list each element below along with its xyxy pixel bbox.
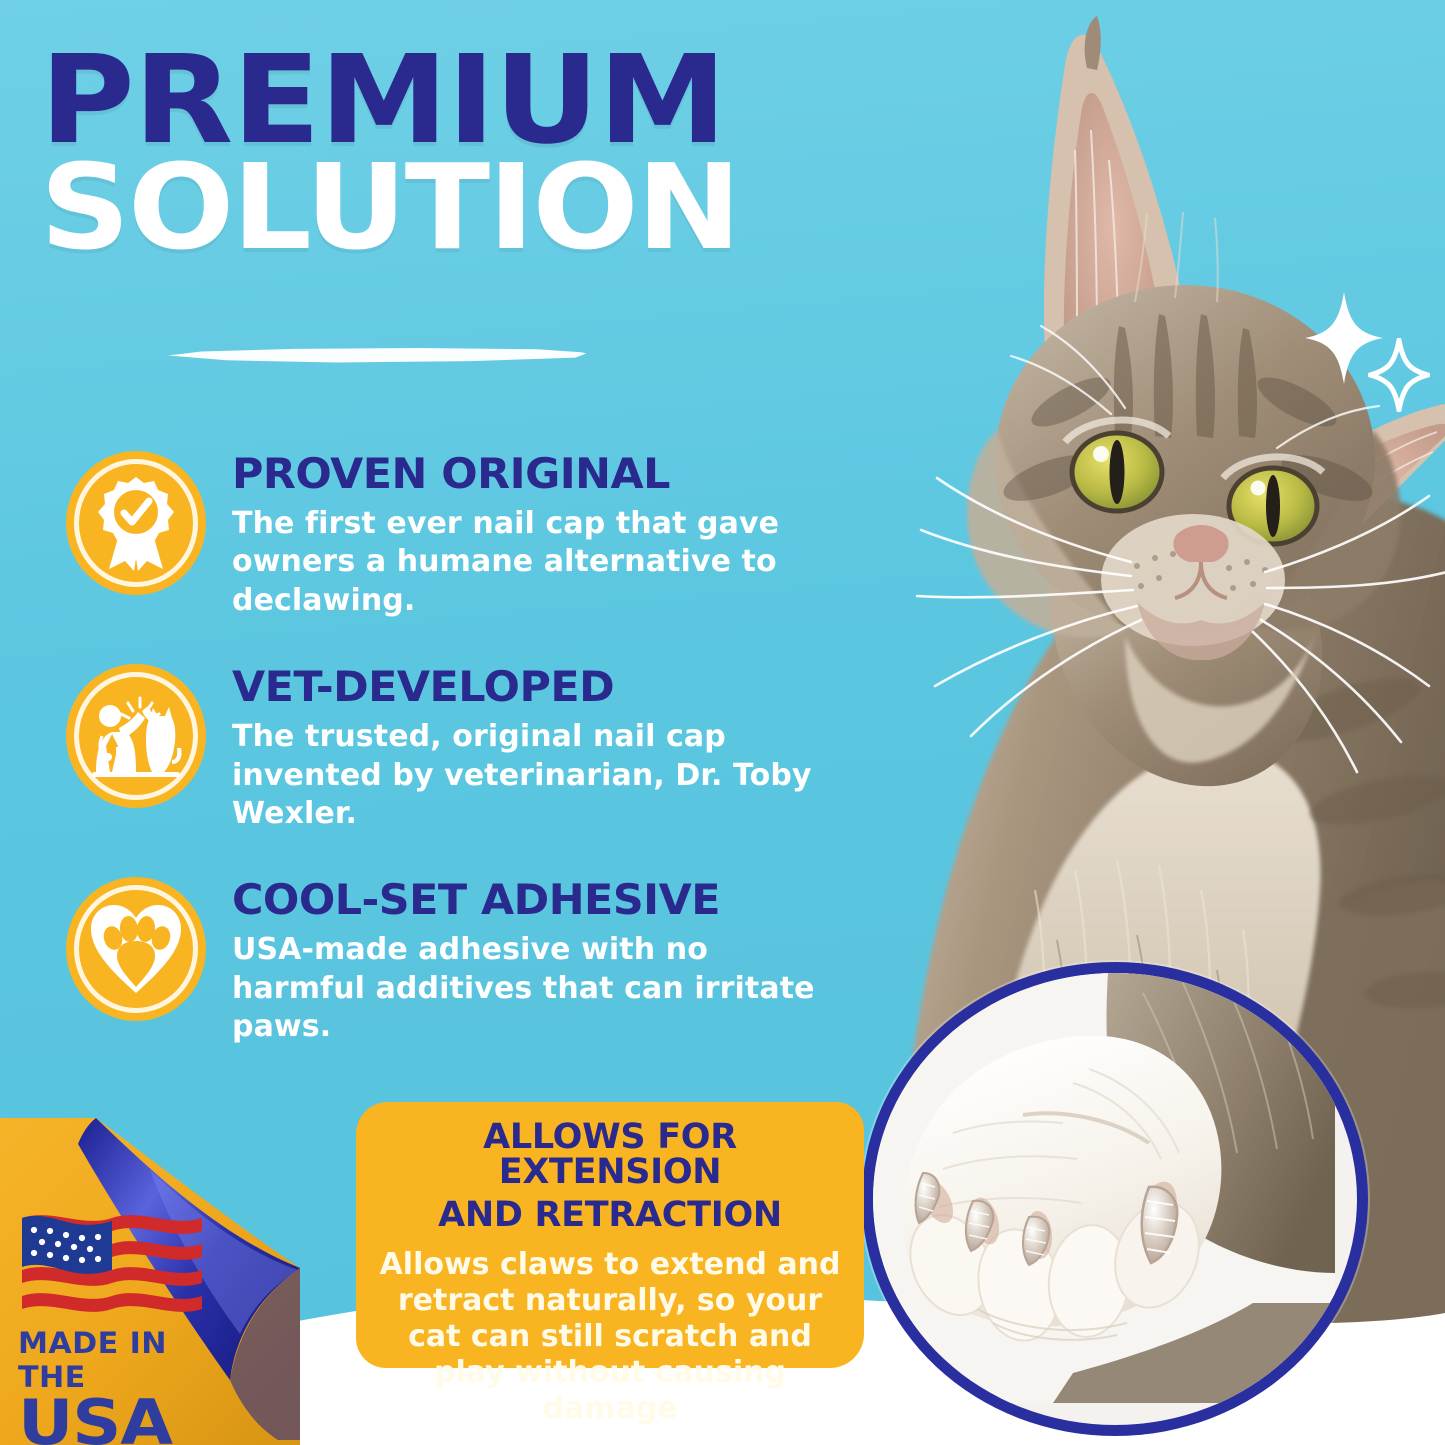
feature-title: VET-DEVELOPED [232, 666, 854, 708]
headline-block: PREMIUM SOLUTION [40, 48, 830, 258]
feature-list: PROVEN ORIGINAL The first ever nail cap … [62, 447, 842, 1087]
feature-item-cool-set-adhesive: COOL-SET ADHESIVE USA-made adhesive with… [62, 873, 842, 1046]
extension-retraction-callout: ALLOWS FOR EXTENSION AND RETRACTION Allo… [356, 1102, 864, 1368]
feature-item-vet-developed: VET-DEVELOPED The trusted, original nail… [62, 660, 842, 833]
feature-item-proven-original: PROVEN ORIGINAL The first ever nail cap … [62, 447, 842, 620]
feature-title: COOL-SET ADHESIVE [232, 879, 854, 921]
usa-badge-line-2: USA [18, 1392, 238, 1445]
product-infographic: PREMIUM SOLUTION PRO [0, 0, 1445, 1445]
usa-badge-line-1: MADE IN THE [18, 1326, 226, 1394]
vet-high-five-cat-icon [62, 660, 210, 812]
feature-title: PROVEN ORIGINAL [232, 453, 854, 495]
callout-title-line-1: ALLOWS FOR EXTENSION [376, 1120, 844, 1190]
award-ribbon-check-icon [62, 447, 210, 599]
feature-body: The trusted, original nail cap invented … [232, 718, 832, 833]
feature-body: USA-made adhesive with no harmful additi… [232, 931, 832, 1046]
callout-title-line-2: AND RETRACTION [376, 1198, 844, 1233]
callout-body: Allows claws to extend and retract natur… [376, 1247, 844, 1427]
made-in-usa-badge: MADE IN THE USA [0, 1118, 300, 1445]
sparkle-star-outline-icon [1368, 338, 1430, 417]
headline-line-2: SOLUTION [40, 157, 877, 258]
paw-inset-photo [862, 962, 1368, 1436]
heart-paw-icon [62, 873, 210, 1025]
feature-body: The first ever nail cap that gave owners… [232, 505, 832, 620]
